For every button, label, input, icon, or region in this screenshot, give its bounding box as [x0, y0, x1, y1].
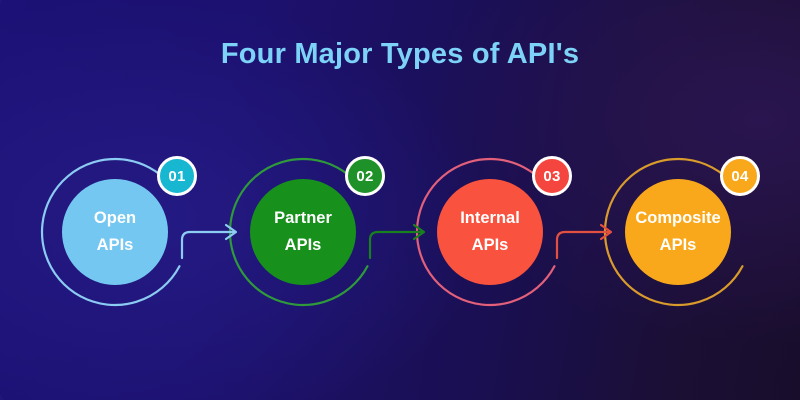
page-title: Four Major Types of API's: [0, 38, 800, 71]
infographic-canvas: Four Major Types of API's Open APIs 01: [0, 0, 800, 400]
node-label-line1: Composite: [635, 206, 720, 232]
disc-open-apis: Open APIs: [62, 179, 168, 285]
disc-internal-apis: Internal APIs: [437, 179, 543, 285]
badge-02[interactable]: 02: [345, 156, 385, 196]
badge-number: 02: [356, 168, 373, 185]
node-label-line2: APIs: [285, 233, 322, 259]
badge-04[interactable]: 04: [720, 156, 760, 196]
node-open-apis[interactable]: Open APIs 01: [35, 152, 195, 312]
arrow-shaft: [557, 232, 609, 258]
arrow-partner-to-internal: [366, 186, 444, 264]
badge-number: 04: [731, 168, 748, 185]
badge-01[interactable]: 01: [157, 156, 197, 196]
node-label-line1: Open: [94, 206, 136, 232]
node-label-line1: Internal: [460, 206, 520, 232]
arrow-shaft: [182, 232, 234, 258]
disc-partner-apis: Partner APIs: [250, 179, 356, 285]
node-label-line1: Partner: [274, 206, 332, 232]
badge-number: 01: [168, 168, 185, 185]
node-label-line2: APIs: [660, 233, 697, 259]
arrow-shaft: [370, 232, 422, 258]
node-label-line2: APIs: [97, 233, 134, 259]
node-label-line2: APIs: [472, 233, 509, 259]
disc-composite-apis: Composite APIs: [625, 179, 731, 285]
badge-03[interactable]: 03: [532, 156, 572, 196]
arrow-open-to-partner: [178, 186, 256, 264]
badge-number: 03: [543, 168, 560, 185]
arrow-internal-to-composite: [553, 186, 631, 264]
